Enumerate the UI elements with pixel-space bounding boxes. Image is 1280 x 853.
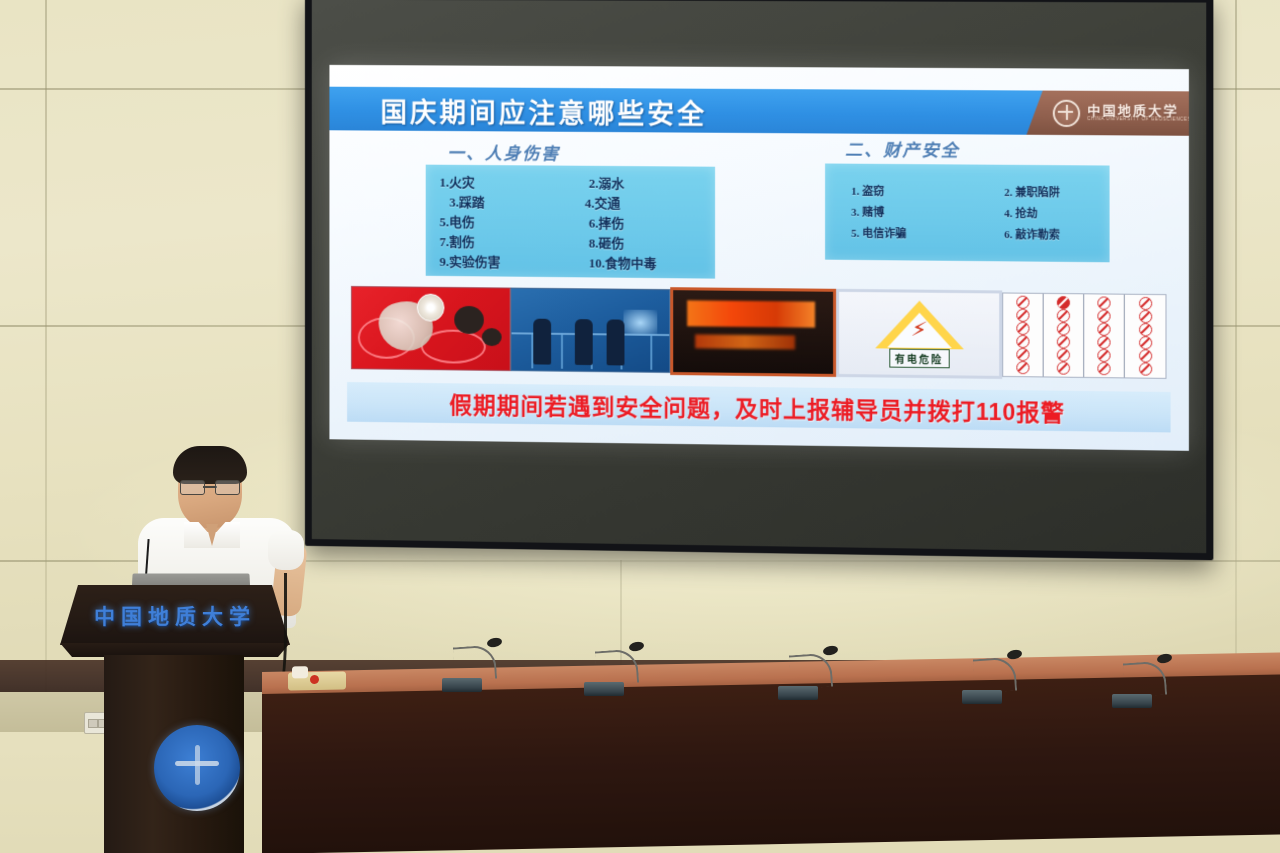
building-fire-photo — [670, 287, 835, 377]
podium-side-tray — [288, 671, 346, 690]
university-seal-icon — [154, 725, 240, 811]
drowning-rescue-photo — [510, 288, 670, 373]
university-logo-text: 中国地质大学 CHINA UNIVERSITY OF GEOSCIENCES — [1087, 104, 1189, 123]
gooseneck-microphone-icon — [778, 644, 834, 700]
electrical-accident-photo — [351, 286, 510, 371]
university-logo: 中国地质大学 CHINA UNIVERSITY OF GEOSCIENCES — [1026, 90, 1188, 135]
prohibition-signs-chart-photo — [1003, 292, 1167, 378]
lecture-hall-scene: 国庆期间应注意哪些安全 中国地质大学 CHINA UNIVERSITY OF G… — [0, 0, 1280, 853]
university-seal-icon — [1053, 99, 1080, 126]
list-item: 1.火灾 — [439, 171, 570, 191]
hazard-sign-caption: 有电危险 — [889, 349, 949, 369]
gooseneck-microphone-icon — [962, 648, 1018, 704]
slide-title-band: 国庆期间应注意哪些安全 中国地质大学 CHINA UNIVERSITY OF G… — [329, 87, 1188, 136]
projection-screen: 国庆期间应注意哪些安全 中国地质大学 CHINA UNIVERSITY OF G… — [305, 0, 1213, 560]
list-item: 3.踩踏 — [439, 191, 570, 211]
list-item: 5.电伤 — [439, 211, 570, 231]
gooseneck-microphone-icon — [1112, 652, 1168, 708]
conference-table — [262, 672, 1280, 853]
property-safety-list-box: 1. 盗窃 2. 兼职陷阱 3. 赌博 4. 抢劫 5. 电信诈骗 6. 敲诈勒… — [825, 164, 1110, 263]
section-heading-property-safety: 二、财产安全 — [845, 136, 960, 162]
list-item: 10.食物中毒 — [575, 252, 707, 272]
personal-injury-items: 1.火灾 2.溺水 3.踩踏 4.交通 5.电伤 6.摔伤 7.割伤 8.砸伤 … — [426, 165, 715, 279]
speaker-right-sleeve — [268, 530, 304, 570]
lectern-podium: 中国地质大学 — [60, 585, 290, 853]
list-item: 4.交通 — [575, 192, 707, 212]
electrical-hazard-sign-photo: ⚡ 有电危险 — [836, 289, 1003, 379]
slide-title: 国庆期间应注意哪些安全 — [380, 91, 707, 132]
list-item: 8.砸伤 — [575, 232, 707, 252]
eyeglasses-icon — [180, 480, 240, 493]
list-item: 6. 敲诈勒索 — [978, 226, 1099, 243]
gooseneck-microphone-icon — [442, 636, 498, 692]
personal-injury-list-box: 1.火灾 2.溺水 3.踩踏 4.交通 5.电伤 6.摔伤 7.割伤 8.砸伤 … — [426, 165, 715, 279]
property-safety-items: 1. 盗窃 2. 兼职陷阱 3. 赌博 4. 抢劫 5. 电信诈骗 6. 敲诈勒… — [825, 164, 1110, 263]
alert-banner-text: 假期期间若遇到安全问题，及时上报辅导员并拨打110报警 — [449, 386, 1065, 428]
list-item: 4. 抢劫 — [978, 205, 1099, 222]
list-item: 9.实验伤害 — [439, 251, 570, 271]
speaker-hair — [173, 446, 247, 484]
slide-photo-strip: ⚡ 有电危险 — [351, 285, 1166, 380]
list-item: 2.溺水 — [575, 172, 707, 192]
list-item: 5. 电信诈骗 — [851, 225, 972, 242]
list-item: 2. 兼职陷阱 — [978, 184, 1099, 201]
list-item: 7.割伤 — [439, 231, 570, 251]
alert-banner: 假期期间若遇到安全问题，及时上报辅导员并拨打110报警 — [347, 382, 1170, 432]
presentation-slide: 国庆期间应注意哪些安全 中国地质大学 CHINA UNIVERSITY OF G… — [329, 65, 1188, 451]
list-item: 3. 赌博 — [851, 204, 972, 221]
gooseneck-microphone-icon — [584, 640, 640, 696]
list-item: 6.摔伤 — [575, 212, 707, 232]
list-item: 1. 盗窃 — [851, 183, 972, 200]
university-name-en: CHINA UNIVERSITY OF GEOSCIENCES — [1087, 117, 1189, 122]
section-heading-personal-injury: 一、人身伤害 — [447, 139, 560, 165]
